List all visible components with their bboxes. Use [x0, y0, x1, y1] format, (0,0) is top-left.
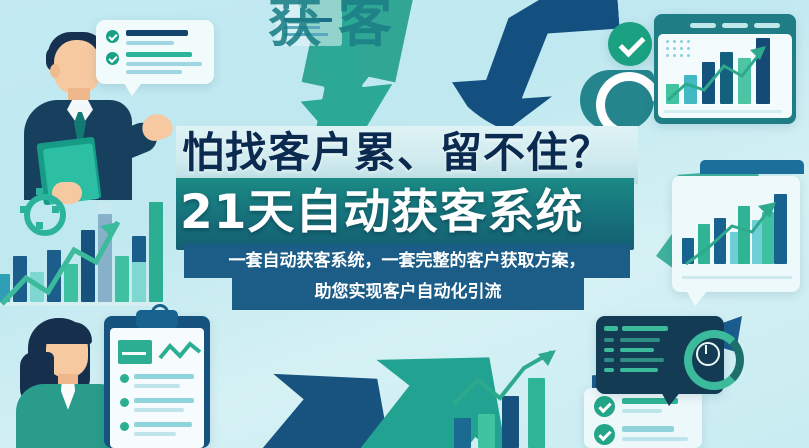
card-header-bar: [700, 160, 804, 174]
text-line: [622, 426, 674, 432]
speech-bubble-tail: [122, 80, 144, 96]
clipboard-ring: [151, 304, 169, 322]
text-line: [126, 62, 202, 66]
text-line: [134, 374, 194, 379]
list-bullet: [120, 422, 129, 431]
text-line: [126, 70, 182, 74]
text-line: [126, 41, 174, 45]
text-line: [622, 437, 688, 441]
subtitle-line-2: 助您实现客户自动化引流: [232, 276, 584, 310]
text-line: [134, 422, 192, 427]
window-tab: [754, 23, 780, 28]
check-icon: [594, 396, 615, 417]
text-line: [620, 368, 658, 372]
chart-baseline: [664, 110, 782, 113]
text-line: [604, 358, 614, 362]
headline-primary: 怕找客户累、留不住？: [182, 124, 634, 182]
headline-secondary: 21天自动获客系统: [180, 176, 636, 250]
gear-tooth: [36, 188, 43, 195]
illustration-businessman-right: [694, 300, 809, 448]
text-line: [604, 326, 618, 331]
line-chart-icon: [158, 340, 202, 366]
trend-arrow-icon: [448, 346, 578, 412]
promo-poster: 获客: [0, 0, 809, 448]
chart-bar: [454, 418, 471, 448]
text-line: [620, 338, 660, 342]
text-line: [134, 384, 180, 388]
trend-arrow-icon: [664, 42, 786, 104]
text-line: [126, 52, 192, 57]
check-icon: [608, 22, 652, 66]
text-line: [622, 409, 662, 413]
text-line: [134, 398, 194, 403]
trend-arrow-icon: [680, 190, 796, 270]
check-icon: [106, 52, 119, 65]
check-icon: [594, 424, 615, 445]
chart-bar: [478, 414, 495, 448]
text-line: [604, 338, 614, 342]
trend-arrow-icon: [0, 200, 175, 318]
list-bullet: [120, 398, 129, 407]
window-tab: [690, 23, 716, 28]
window-tab: [722, 23, 748, 28]
text-line: [620, 358, 664, 362]
list-bullet: [120, 374, 129, 383]
text-line: [134, 408, 184, 412]
text-line: [126, 30, 188, 36]
chart-baseline: [682, 276, 792, 279]
text-line: [620, 348, 654, 352]
hair: [42, 322, 92, 344]
text-line: [604, 368, 614, 372]
subtitle-line-1: 一套自动获客系统，一套完整的客户获取方案，: [184, 244, 630, 278]
text-line: [604, 348, 614, 352]
speech-bubble-tail: [660, 390, 682, 406]
headline-banner: 怕找客户累、留不住？ 21天自动获客系统 一套自动获客系统，一套完整的客户获取方…: [176, 126, 638, 314]
head: [54, 40, 100, 94]
check-icon: [106, 30, 119, 43]
top-clipped-title: 获客: [268, 0, 468, 30]
text-line: [134, 432, 176, 436]
text-line: [622, 326, 668, 331]
chart-block-line: [122, 352, 146, 355]
ear: [50, 64, 60, 78]
